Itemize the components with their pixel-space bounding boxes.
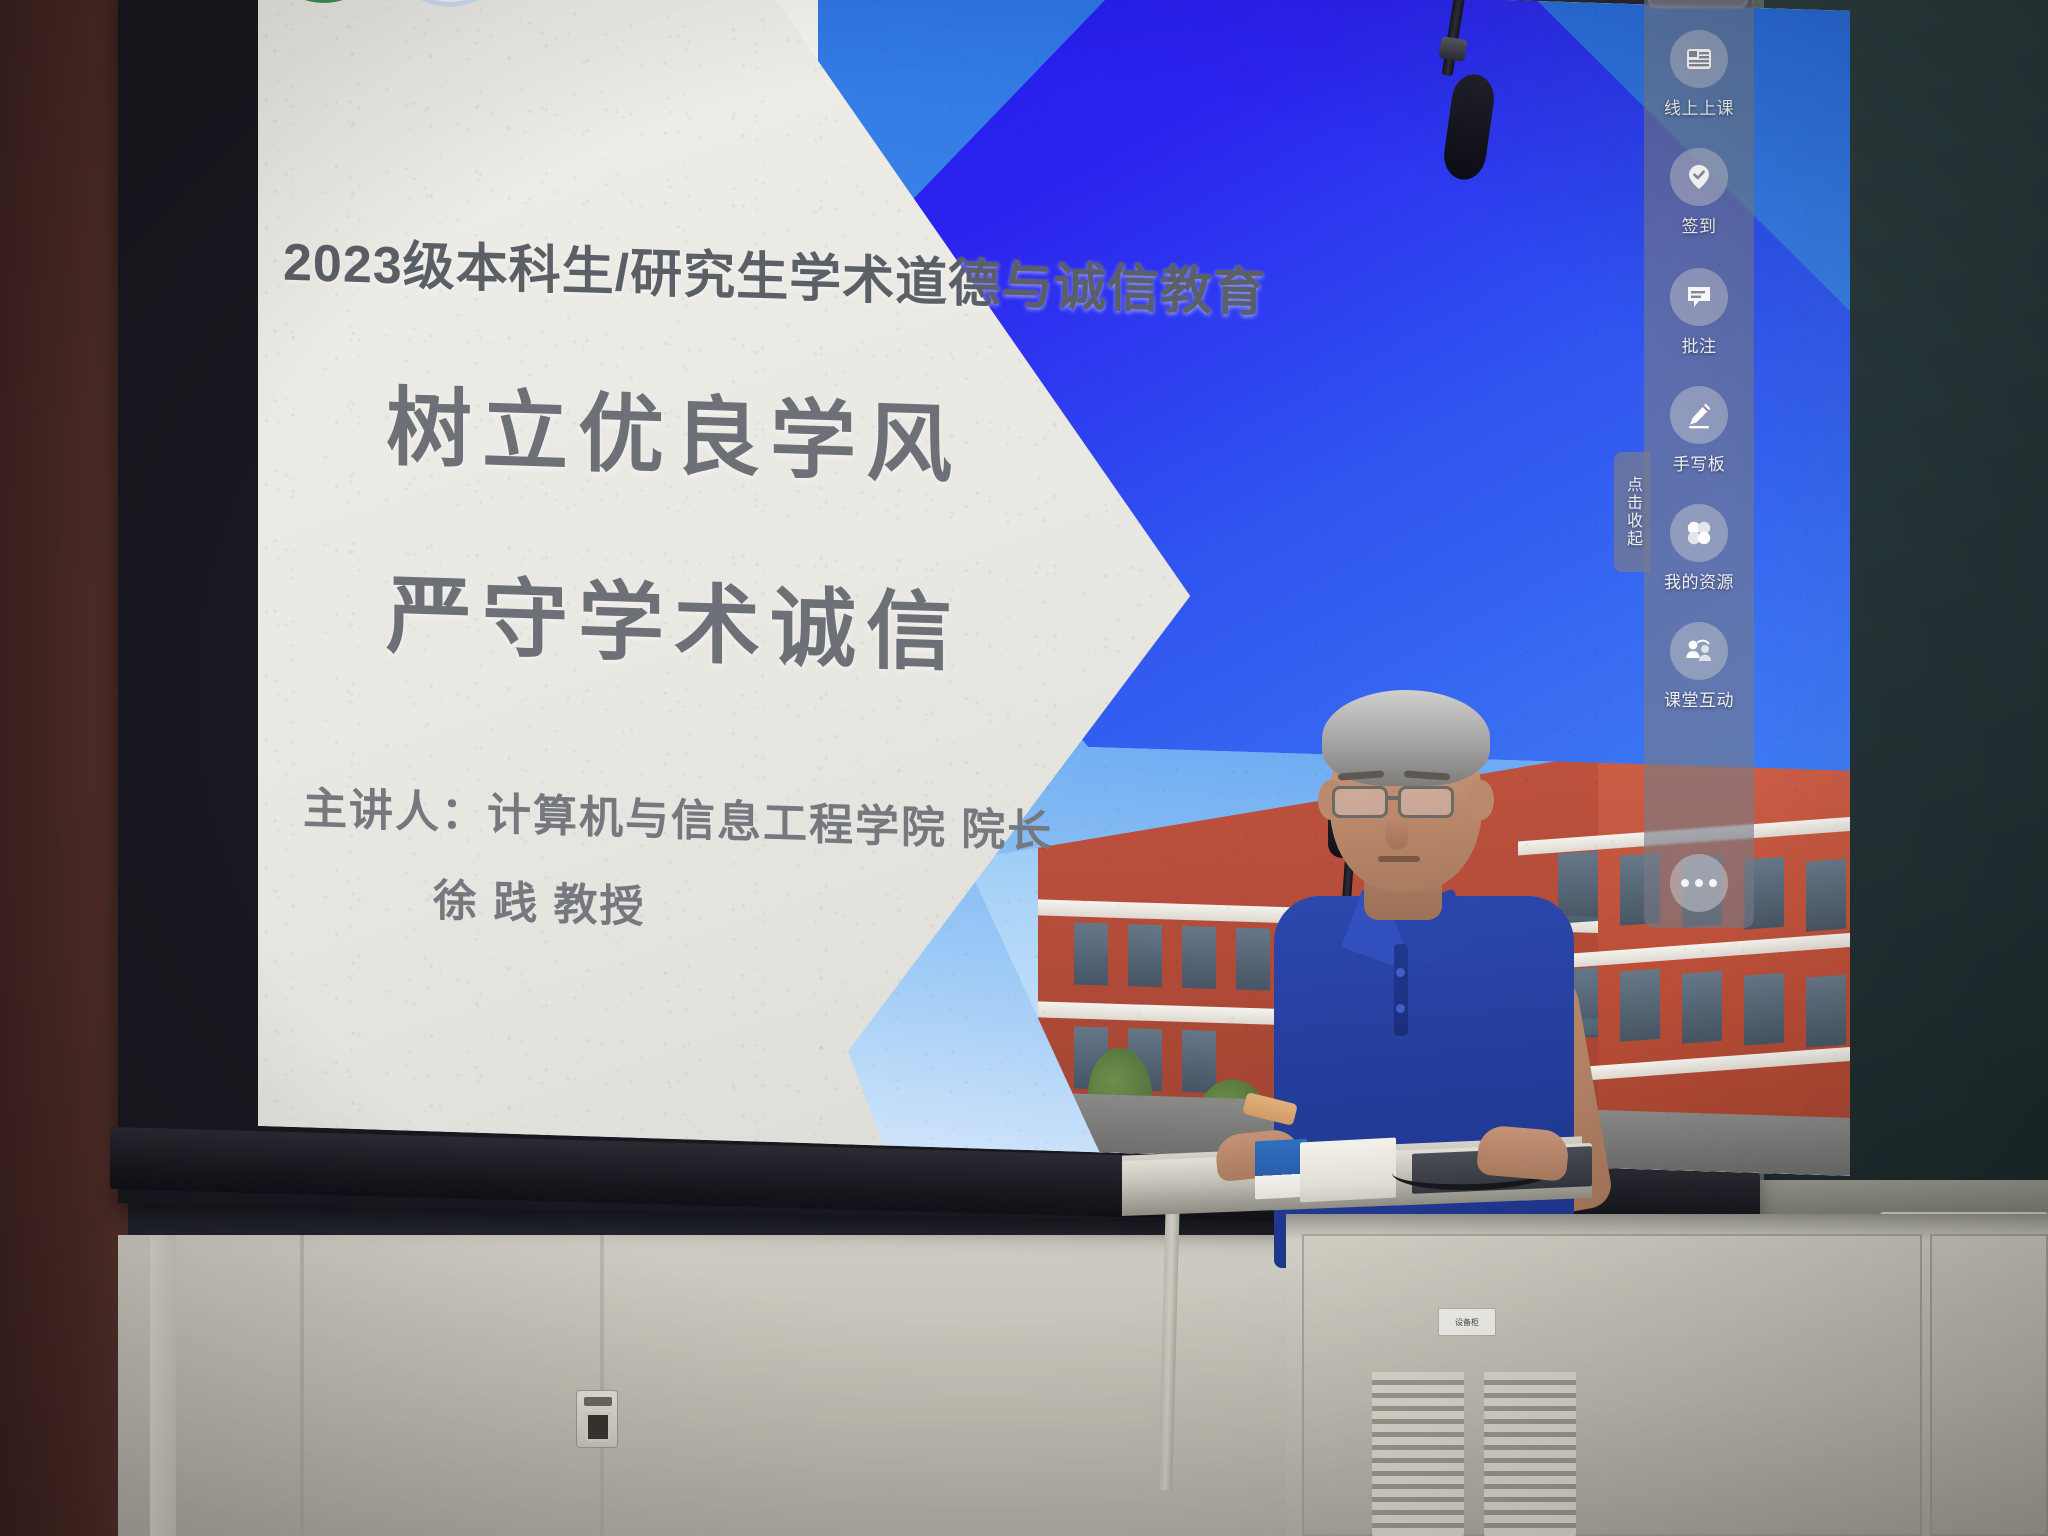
annotation-icon xyxy=(1670,268,1728,326)
toolbar-item-online-class[interactable]: 线上上课 xyxy=(1644,30,1754,119)
presenter-shirt-button xyxy=(1396,968,1405,977)
presenter-eyeglasses-bridge xyxy=(1388,796,1400,800)
cabinet-door-right[interactable] xyxy=(1930,1234,2048,1536)
more-dot xyxy=(1709,879,1717,887)
cabinet-label: 设备柜 xyxy=(1438,1308,1496,1336)
more-dot xyxy=(1681,879,1689,887)
left-wall-dark-panel xyxy=(0,0,128,1536)
toolbar-label-classroom-interaction: 课堂互动 xyxy=(1664,686,1734,711)
slide-title-line-2: 严守学术诚信 xyxy=(386,545,962,688)
cabinet-vent-right xyxy=(1484,1372,1576,1536)
slide-title-line-1: 树立优良学风 xyxy=(386,357,962,500)
lecture-hall-scene: CCIE 2023级本科生/研究生学术道德与诚信教育 树立优良学风 严守学术诚信… xyxy=(0,0,2048,1536)
presenter-eyeglasses-left xyxy=(1332,786,1388,818)
toolbar-label-annotation: 批注 xyxy=(1682,332,1717,357)
more-dot xyxy=(1695,879,1703,887)
toolbar-collapse-tab[interactable]: 点击收起 xyxy=(1614,452,1650,572)
slide-text-layer: 2023级本科生/研究生学术道德与诚信教育 树立优良学风 严守学术诚信 主讲人：… xyxy=(258,0,1850,1176)
toolbar-item-my-resources[interactable]: 我的资源 xyxy=(1644,504,1754,593)
my-resources-icon xyxy=(1670,504,1728,562)
ceiling-microphone-joint xyxy=(1438,36,1467,62)
check-in-icon xyxy=(1670,148,1728,206)
projection-screen: CCIE 2023级本科生/研究生学术道德与诚信教育 树立优良学风 严守学术诚信… xyxy=(258,0,1850,1176)
classroom-interaction-icon xyxy=(1670,622,1728,680)
slide-presenter-role: 主讲人：计算机与信息工程学院 院长 xyxy=(303,772,1403,871)
toolbar-label-check-in: 签到 xyxy=(1682,212,1717,237)
toolbar-item-annotation[interactable]: 批注 xyxy=(1644,268,1754,357)
wall-power-outlet xyxy=(576,1390,618,1448)
wall-seam-a xyxy=(300,1235,304,1536)
toolbar-label-my-resources: 我的资源 xyxy=(1664,568,1734,593)
toolbar-item-check-in[interactable]: 签到 xyxy=(1644,148,1754,237)
toolbar-label-online-class: 线上上课 xyxy=(1664,94,1734,119)
slide-header: 2023级本科生/研究生学术道德与诚信教育 xyxy=(283,220,1533,334)
tissue-box xyxy=(1300,1137,1396,1202)
toolbar-collapse-label: 点击收起 xyxy=(1620,476,1644,548)
presenter-eyeglasses-right xyxy=(1398,786,1454,818)
smart-classroom-toolbar[interactable]: 线上上课 签到 批注 xyxy=(1644,0,1754,928)
wall-seam-b xyxy=(600,1235,604,1536)
slide-presenter-name: 徐 践 教授 xyxy=(433,864,645,935)
toolbar-more-button[interactable] xyxy=(1670,854,1728,912)
presenter-ear-right xyxy=(1468,780,1494,820)
presenter-nose xyxy=(1386,818,1408,850)
toolbar-label-handwriting-pad: 手写板 xyxy=(1673,450,1726,475)
presenter-hand-right xyxy=(1476,1124,1570,1182)
online-class-icon xyxy=(1670,30,1728,88)
cabinet-vent-left xyxy=(1372,1372,1464,1536)
cabinet-label-text: 设备柜 xyxy=(1455,1317,1479,1328)
toolbar-item-handwriting-pad[interactable]: 手写板 xyxy=(1644,386,1754,475)
presenter-mouth xyxy=(1378,856,1420,862)
handwriting-pad-icon xyxy=(1670,386,1728,444)
presenter-shirt-placket xyxy=(1394,944,1408,1036)
toolbar-item-classroom-interaction[interactable]: 课堂互动 xyxy=(1644,622,1754,711)
presenter-shirt-button xyxy=(1396,1004,1405,1013)
wall-pillar-left xyxy=(150,1235,176,1536)
